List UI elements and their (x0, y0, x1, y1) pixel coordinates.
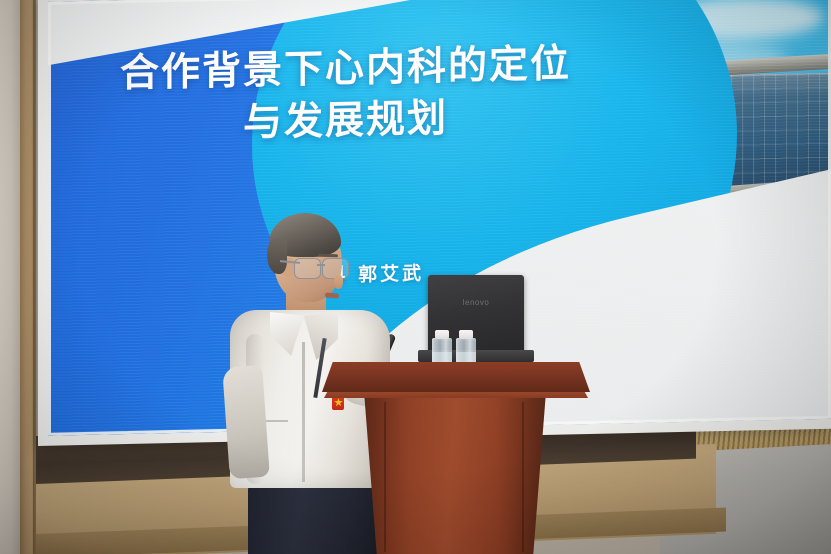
lectern-panel-seam (522, 402, 524, 552)
lectern (322, 362, 590, 554)
speaker-arm-left (222, 365, 270, 480)
bottle-cap (459, 330, 473, 339)
lectern-panel-seam (384, 402, 386, 552)
speaker-mouth (325, 293, 339, 299)
lectern-top (322, 362, 590, 392)
lectern-body-shading (352, 396, 558, 554)
wall-left-plaster (0, 0, 20, 554)
slide-title-line-1: 合作背景下心内科的定位 (120, 41, 571, 96)
bottle-cap (435, 330, 449, 339)
presentation-photo-scene: 上海市东方医院南通瑞慈医院 门诊 合作背景下心内科的定位 与发展规划 心内科 郭… (0, 0, 831, 554)
speaker-sideburn (267, 238, 287, 274)
laptop-logo: lenovo (463, 298, 490, 307)
speaker-nose (334, 274, 343, 289)
eyeglasses-bridge (317, 264, 325, 266)
slide-title: 合作背景下心内科的定位 与发展规划 (64, 37, 628, 154)
coat-placket (302, 342, 305, 482)
speaker-eyebrow (318, 254, 338, 258)
